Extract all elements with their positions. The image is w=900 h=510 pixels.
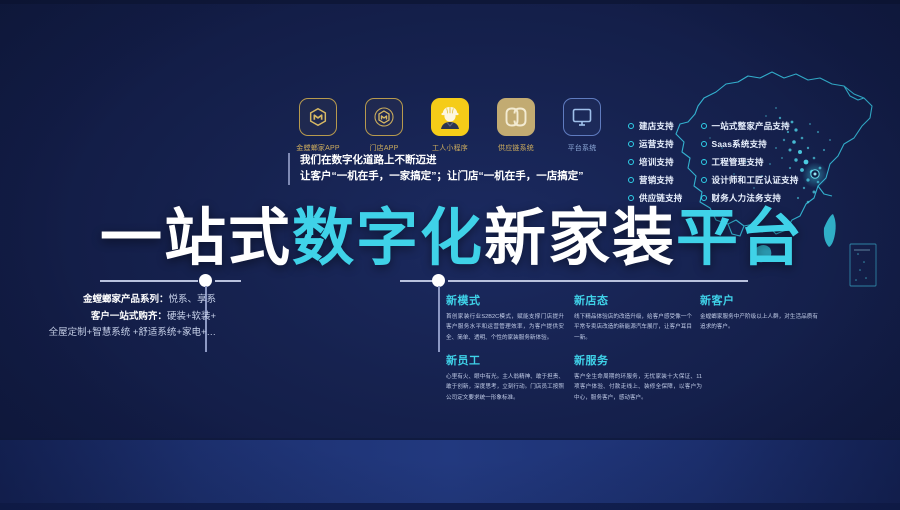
icon-cell-store-app[interactable]: 门店APP bbox=[363, 98, 405, 153]
support-item: 建店支持 bbox=[628, 120, 683, 132]
product-series-block: 金螳螂家产品系列：悦系、享系 客户一站式购齐：硬装+软装+ 全屋定制+智慧系统 … bbox=[18, 292, 216, 342]
feature-new-customer: 新客户 金螳螂家服务中产阶级以上人群，对生活品质有追求的客户。 bbox=[700, 292, 818, 333]
slogan-line-1: 我们在数字化道路上不断迈进 bbox=[300, 153, 584, 169]
support-item: 运营支持 bbox=[628, 138, 683, 150]
product-line-3: 全屋定制+智慧系统 +舒适系统+家电+… bbox=[18, 325, 216, 342]
product-line-2: 客户一站式购齐：硬装+软装+ bbox=[18, 309, 216, 326]
support-column-right: 一站式整家产品支持 Saas系统支持 工程管理支持 设计师和工匠认证支持 财务人… bbox=[701, 120, 799, 204]
ring-bullet-icon bbox=[628, 123, 634, 129]
feature-body: 金螳螂家服务中产阶级以上人群，对生活品质有追求的客户。 bbox=[700, 312, 818, 333]
support-label: 运营支持 bbox=[639, 138, 674, 150]
ring-bullet-icon bbox=[701, 123, 707, 129]
support-item: 财务人力法务支持 bbox=[701, 192, 799, 204]
feature-title: 新员工 bbox=[446, 352, 564, 368]
support-column-left: 建店支持 运营支持 培训支持 营销支持 供应链支持 bbox=[628, 120, 683, 204]
feature-body: 首创家装行业S2B2C模式，赋能支撑门店提升客户服务水平和运营管理效率，为客户提… bbox=[446, 312, 564, 343]
support-item: Saas系统支持 bbox=[701, 138, 799, 150]
headline-part-2: 数字化 bbox=[292, 204, 484, 273]
support-label: 一站式整家产品支持 bbox=[712, 120, 790, 132]
app-icon-row: 金螳螂家APP 门店APP bbox=[297, 98, 603, 153]
ring-bullet-icon bbox=[628, 177, 634, 183]
supply-chain-icon[interactable] bbox=[497, 98, 535, 136]
platform-icon[interactable] bbox=[563, 98, 601, 136]
feature-title: 新客户 bbox=[700, 292, 818, 308]
feature-body: 客户全生命周期的环服务，无忧家装十大保证、11项客户体验、付款走线上、装修全保障… bbox=[574, 372, 702, 403]
feature-body: 心里有火、眼中有光。主人翁精神、敢于担责、敢于创新，深度思考，立刻行动。门店员工… bbox=[446, 372, 564, 403]
icon-label: 供应链系统 bbox=[498, 143, 534, 153]
support-label: Saas系统支持 bbox=[712, 138, 767, 150]
ring-bullet-icon bbox=[628, 141, 634, 147]
divider-rail-left-a bbox=[100, 280, 198, 282]
divider-rail-left-b bbox=[215, 280, 241, 282]
headline-part-1: 一站式 bbox=[100, 204, 292, 273]
gold-app-icon[interactable] bbox=[299, 98, 337, 136]
support-item: 设计师和工匠认证支持 bbox=[701, 174, 799, 186]
divider-stem-right bbox=[438, 286, 440, 352]
support-label: 财务人力法务支持 bbox=[712, 192, 782, 204]
headline-part-4: 平台 bbox=[676, 204, 804, 273]
icon-cell-platform[interactable]: 平台系统 bbox=[561, 98, 603, 153]
product-line-1-value: 悦系、享系 bbox=[168, 294, 216, 305]
icon-cell-worker-miniapp[interactable]: 工人小程序 bbox=[429, 98, 471, 153]
support-label: 供应链支持 bbox=[639, 192, 683, 204]
icon-cell-gold-app[interactable]: 金螳螂家APP bbox=[297, 98, 339, 153]
ring-bullet-icon bbox=[701, 141, 707, 147]
feature-title: 新服务 bbox=[574, 352, 702, 368]
poster-canvas: 金螳螂家APP 门店APP bbox=[0, 0, 900, 510]
support-label: 培训支持 bbox=[639, 156, 674, 168]
feature-new-staff: 新员工 心里有火、眼中有光。主人翁精神、敢于担责、敢于创新，深度思考，立刻行动。… bbox=[446, 352, 564, 403]
support-label: 营销支持 bbox=[639, 174, 674, 186]
icon-label: 门店APP bbox=[369, 143, 398, 153]
product-line-1: 金螳螂家产品系列：悦系、享系 bbox=[18, 292, 216, 309]
store-app-icon[interactable] bbox=[365, 98, 403, 136]
ring-bullet-icon bbox=[628, 195, 634, 201]
page-title: 一站式数字化新家装平台 bbox=[100, 208, 804, 270]
support-lists: 建店支持 运营支持 培训支持 营销支持 供应链支持 一站式整家产品支持 bbox=[628, 120, 799, 204]
ring-bullet-icon bbox=[701, 195, 707, 201]
ring-bullet-icon bbox=[701, 159, 707, 165]
support-item: 一站式整家产品支持 bbox=[701, 120, 799, 132]
bottom-foot-strip bbox=[0, 503, 900, 510]
slogan-line-2: 让客户“一机在手，一家搞定”；让门店“一机在手，一店搞定” bbox=[300, 169, 584, 185]
bottom-highlight-band bbox=[0, 440, 900, 506]
icon-label: 平台系统 bbox=[568, 143, 597, 153]
monitor-icon bbox=[570, 105, 594, 129]
support-item: 营销支持 bbox=[628, 174, 683, 186]
ring-bullet-icon bbox=[701, 177, 707, 183]
icon-label: 金螳螂家APP bbox=[296, 143, 339, 153]
worker-miniapp-icon[interactable] bbox=[431, 98, 469, 136]
support-item: 供应链支持 bbox=[628, 192, 683, 204]
divider-rail-right-b bbox=[448, 280, 748, 282]
icon-cell-supply-chain[interactable]: 供应链系统 bbox=[495, 98, 537, 153]
product-line-2-value: 硬装+软装+ bbox=[167, 311, 216, 322]
feature-new-service: 新服务 客户全生命周期的环服务，无忧家装十大保证、11项客户体验、付款走线上、装… bbox=[574, 352, 702, 403]
location-pin bbox=[811, 170, 819, 178]
divider-rail-right-a bbox=[400, 280, 435, 282]
support-item: 工程管理支持 bbox=[701, 156, 799, 168]
worker-icon bbox=[436, 103, 464, 131]
feature-new-model: 新模式 首创家装行业S2B2C模式，赋能支撑门店提升客户服务水平和运营管理效率，… bbox=[446, 292, 564, 343]
support-label: 设计师和工匠认证支持 bbox=[712, 174, 799, 186]
feature-title: 新模式 bbox=[446, 292, 564, 308]
support-label: 工程管理支持 bbox=[712, 156, 764, 168]
feature-title: 新店态 bbox=[574, 292, 692, 308]
icon-label: 工人小程序 bbox=[432, 143, 468, 153]
top-edge-strip bbox=[0, 0, 900, 4]
headline-part-3: 新家装 bbox=[484, 204, 676, 273]
feature-body: 线下精品体验店的改造升级，给客户感受像一个平常专卖店改造的新能源汽车展厅，让客户… bbox=[574, 312, 692, 343]
cube-m-circle-icon bbox=[372, 105, 396, 129]
product-line-2-label: 客户一站式购齐： bbox=[91, 311, 167, 322]
ring-bullet-icon bbox=[628, 159, 634, 165]
cube-m-icon bbox=[307, 106, 329, 128]
slogan-block: 我们在数字化道路上不断迈进 让客户“一机在手，一家搞定”；让门店“一机在手，一店… bbox=[288, 153, 584, 185]
product-line-1-label: 金螳螂家产品系列： bbox=[83, 294, 169, 305]
support-item: 培训支持 bbox=[628, 156, 683, 168]
support-label: 建店支持 bbox=[639, 120, 674, 132]
feature-new-store: 新店态 线下精品体验店的改造升级，给客户感受像一个平常专卖店改造的新能源汽车展厅… bbox=[574, 292, 692, 343]
chain-icon bbox=[503, 104, 529, 130]
